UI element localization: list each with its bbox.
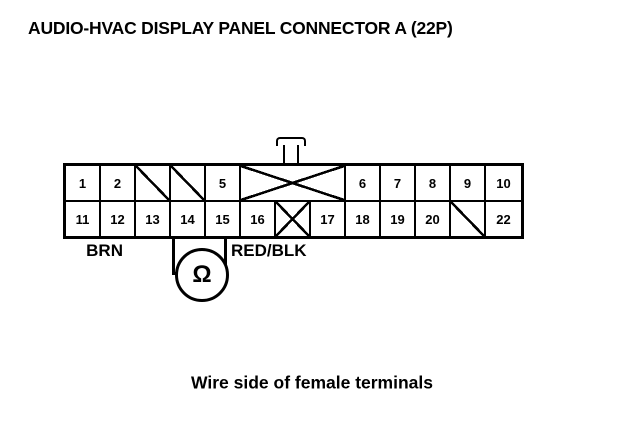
test-lead-right: [224, 237, 227, 275]
figure-title: AUDIO-HVAC DISPLAY PANEL CONNECTOR A (22…: [28, 18, 453, 39]
cavity-10[interactable]: 10: [486, 166, 521, 200]
connector-cavity-grid: 1 2 5 6 7 8 9 10 11 12 13 14 15 16 17: [63, 163, 524, 239]
cavity-14[interactable]: 14: [171, 202, 206, 236]
figure-caption: Wire side of female terminals: [191, 373, 433, 394]
ohmmeter-icon: Ω: [175, 248, 229, 302]
cavity-4-unused: [171, 166, 206, 200]
wire-label-brn: BRN: [86, 241, 123, 261]
cavity-22[interactable]: 22: [486, 202, 521, 236]
cavity-9[interactable]: 9: [451, 166, 486, 200]
cavity-2[interactable]: 2: [101, 166, 136, 200]
test-lead-left: [172, 237, 175, 275]
cavity-12[interactable]: 12: [101, 202, 136, 236]
cavity-6[interactable]: 6: [346, 166, 381, 200]
test-lead-bridge: [172, 272, 227, 275]
connector-assembly: 1 2 5 6 7 8 9 10 11 12 13 14 15 16 17: [63, 163, 524, 239]
cavity-18[interactable]: 18: [346, 202, 381, 236]
cavity-15[interactable]: 15: [206, 202, 241, 236]
cavity-17[interactable]: 17: [311, 202, 346, 236]
cavity-group-blocked-top: [241, 166, 346, 200]
cavity-1[interactable]: 1: [66, 166, 101, 200]
cavity-19[interactable]: 19: [381, 202, 416, 236]
cavity-21-unused: [451, 202, 486, 236]
cavity-11[interactable]: 11: [66, 202, 101, 236]
cavity-row-top: 1 2 5 6 7 8 9 10: [66, 166, 521, 202]
cavity-7[interactable]: 7: [381, 166, 416, 200]
wire-label-red-blk: RED/BLK: [231, 241, 307, 261]
lock-tab-neck: [283, 145, 299, 163]
cavity-8[interactable]: 8: [416, 166, 451, 200]
cavity-3-unused: [136, 166, 171, 200]
cavity-16[interactable]: 16: [241, 202, 276, 236]
cavity-13[interactable]: 13: [136, 202, 171, 236]
cavity-20[interactable]: 20: [416, 202, 451, 236]
connector-lock-tab-icon: [270, 137, 312, 163]
wiring-diagram-figure: AUDIO-HVAC DISPLAY PANEL CONNECTOR A (22…: [0, 0, 624, 424]
cavity-5[interactable]: 5: [206, 166, 241, 200]
cavity-row-bottom: 11 12 13 14 15 16 17 18 19 20 22: [66, 202, 521, 236]
cavity-blocked-bottom: [276, 202, 311, 236]
